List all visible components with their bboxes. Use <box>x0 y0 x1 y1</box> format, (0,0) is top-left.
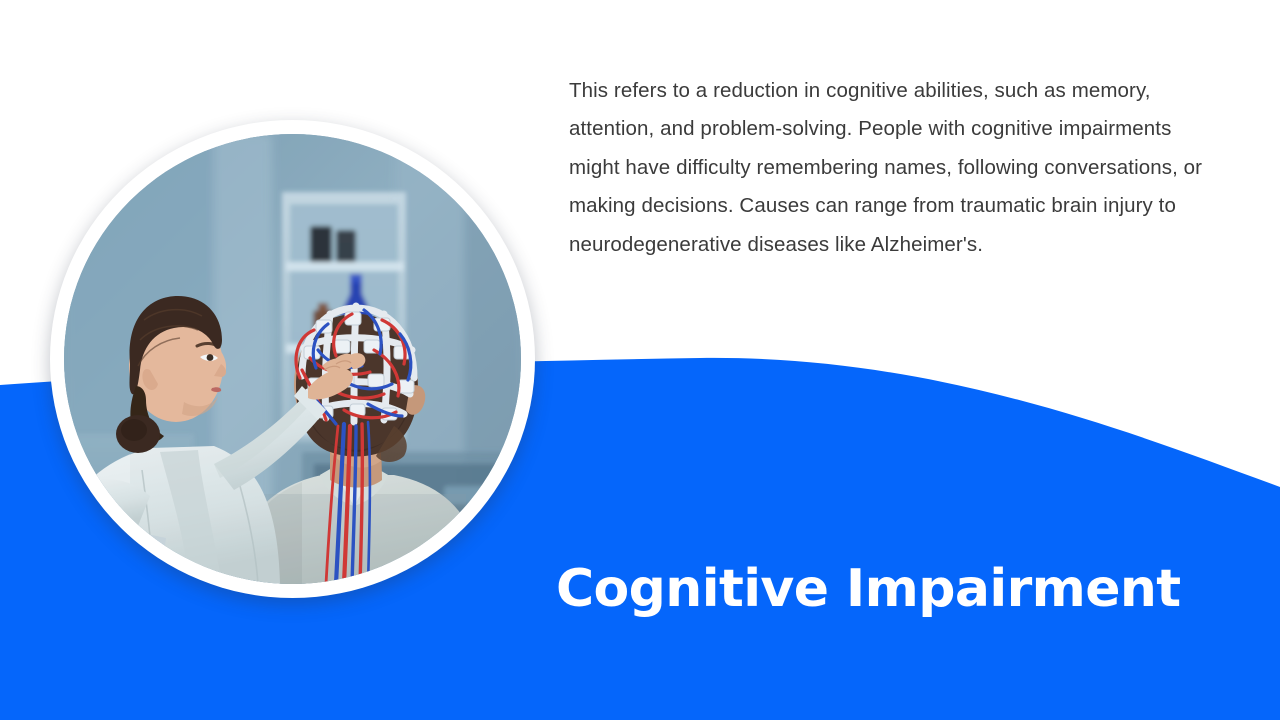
lab-scene-illustration <box>64 134 521 584</box>
page-title: Cognitive Impairment <box>556 553 1181 625</box>
slide-canvas: This refers to a reduction in cognitive … <box>0 0 1280 720</box>
feature-photo <box>64 134 521 584</box>
body-paragraph: This refers to a reduction in cognitive … <box>569 72 1209 264</box>
feature-photo-circle <box>50 120 535 598</box>
